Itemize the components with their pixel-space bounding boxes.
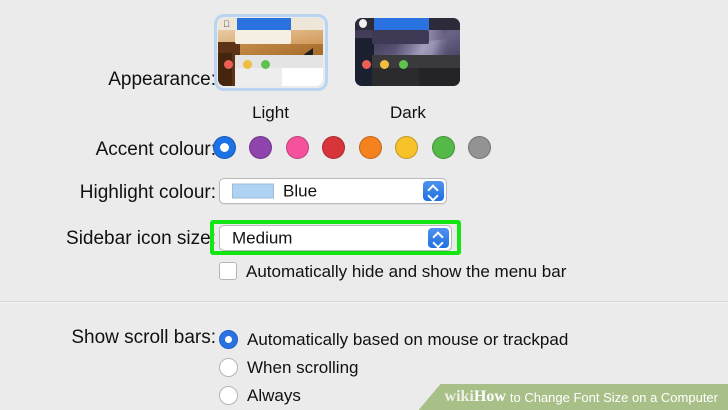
chevron-updown-icon[interactable] (428, 228, 449, 248)
dark-traffic-lights (362, 56, 413, 66)
light-window-content (282, 68, 323, 86)
auto-hide-menu-bar-row[interactable]: Automatically hide and show the menu bar (219, 262, 566, 280)
scroll-bars-radio-automatic[interactable] (219, 330, 238, 349)
appearance-light-thumbnail[interactable]:  (218, 18, 323, 86)
appearance-option-light[interactable]:  (208, 18, 333, 121)
wikihow-watermark: wikiHowto Change Font Size on a Computer (419, 384, 728, 410)
accent-swatch-gray[interactable] (468, 136, 491, 159)
appearance-dark-caption: Dark (345, 104, 470, 121)
dark-window-content (419, 68, 460, 86)
section-divider-highlight (0, 302, 728, 303)
highlight-colour-label-container: Highlight colour: (0, 183, 216, 205)
chevron-up-icon (434, 232, 443, 237)
appearance-row: Appearance:  (0, 10, 728, 110)
scroll-bars-label-always: Always (247, 387, 301, 404)
sidebar-icon-size-value: Medium (232, 230, 292, 247)
accent-colour-swatches (213, 136, 500, 159)
wikihow-watermark-wiki: wiki (445, 389, 474, 405)
scroll-bars-option-when-scrolling[interactable]: When scrolling (219, 353, 568, 381)
sidebar-icon-size-label-container: Sidebar icon size: (0, 229, 216, 251)
wikihow-watermark-title: to Change Font Size on a Computer (510, 391, 718, 404)
appearance-light-caption: Light (208, 104, 333, 121)
scroll-bars-label-when-scrolling: When scrolling (247, 359, 359, 376)
dark-menu-bar-highlight (374, 18, 429, 30)
accent-colour-label-container: Accent colour: (0, 140, 216, 162)
sidebar-icon-size-row: Sidebar icon size: Medium (0, 222, 728, 254)
apple-logo-icon (359, 19, 367, 28)
system-preferences-general-panel: Appearance:  (0, 0, 728, 410)
accent-swatch-orange[interactable] (359, 136, 382, 159)
sidebar-icon-size-label: Sidebar icon size: (66, 229, 216, 248)
accent-swatch-green[interactable] (432, 136, 455, 159)
highlight-colour-row: Highlight colour: Blue (0, 178, 728, 206)
scroll-bars-radio-when-scrolling[interactable] (219, 358, 238, 377)
accent-colour-row: Accent colour: (0, 136, 728, 162)
scroll-bars-radio-always[interactable] (219, 386, 238, 405)
accent-swatch-red[interactable] (322, 136, 345, 159)
appearance-label-container: Appearance: (0, 70, 216, 94)
chevron-down-icon (434, 240, 443, 245)
sidebar-icon-size-select[interactable]: Medium (219, 225, 452, 251)
wikihow-watermark-how: How (474, 389, 506, 405)
chevron-updown-icon[interactable] (423, 181, 444, 201)
chevron-down-icon (429, 193, 438, 198)
highlight-colour-value: Blue (283, 183, 317, 200)
chevron-up-icon (429, 185, 438, 190)
accent-swatch-yellow[interactable] (395, 136, 418, 159)
light-sheet-panel (235, 30, 292, 44)
appearance-label: Appearance: (108, 70, 216, 89)
accent-swatch-pink[interactable] (286, 136, 309, 159)
light-menu-bar-highlight (237, 18, 292, 30)
auto-hide-menu-bar-label: Automatically hide and show the menu bar (246, 263, 566, 280)
zoom-button-icon (399, 60, 408, 69)
show-scroll-bars-label: Show scroll bars: (71, 328, 216, 347)
highlight-colour-select[interactable]: Blue (219, 178, 447, 204)
highlight-colour-label: Highlight colour: (80, 183, 216, 202)
scroll-bars-label-automatic: Automatically based on mouse or trackpad (247, 331, 568, 348)
minimize-button-icon (243, 60, 252, 69)
accent-swatch-blue[interactable] (213, 136, 236, 159)
apple-logo-icon:  (223, 20, 230, 28)
scroll-bars-option-automatic[interactable]: Automatically based on mouse or trackpad (219, 325, 568, 353)
show-scroll-bars-label-container: Show scroll bars: (0, 328, 216, 350)
auto-hide-menu-bar-checkbox[interactable] (219, 262, 237, 280)
appearance-option-dark[interactable]: Dark (345, 18, 470, 121)
highlight-colour-chip (232, 184, 274, 199)
appearance-dark-thumbnail[interactable] (355, 18, 460, 86)
appearance-options:  (208, 18, 470, 121)
dark-sheet-panel (372, 30, 429, 44)
close-button-icon (362, 60, 371, 69)
accent-colour-label: Accent colour: (96, 140, 216, 159)
accent-swatch-purple[interactable] (249, 136, 272, 159)
light-traffic-lights (224, 56, 275, 66)
